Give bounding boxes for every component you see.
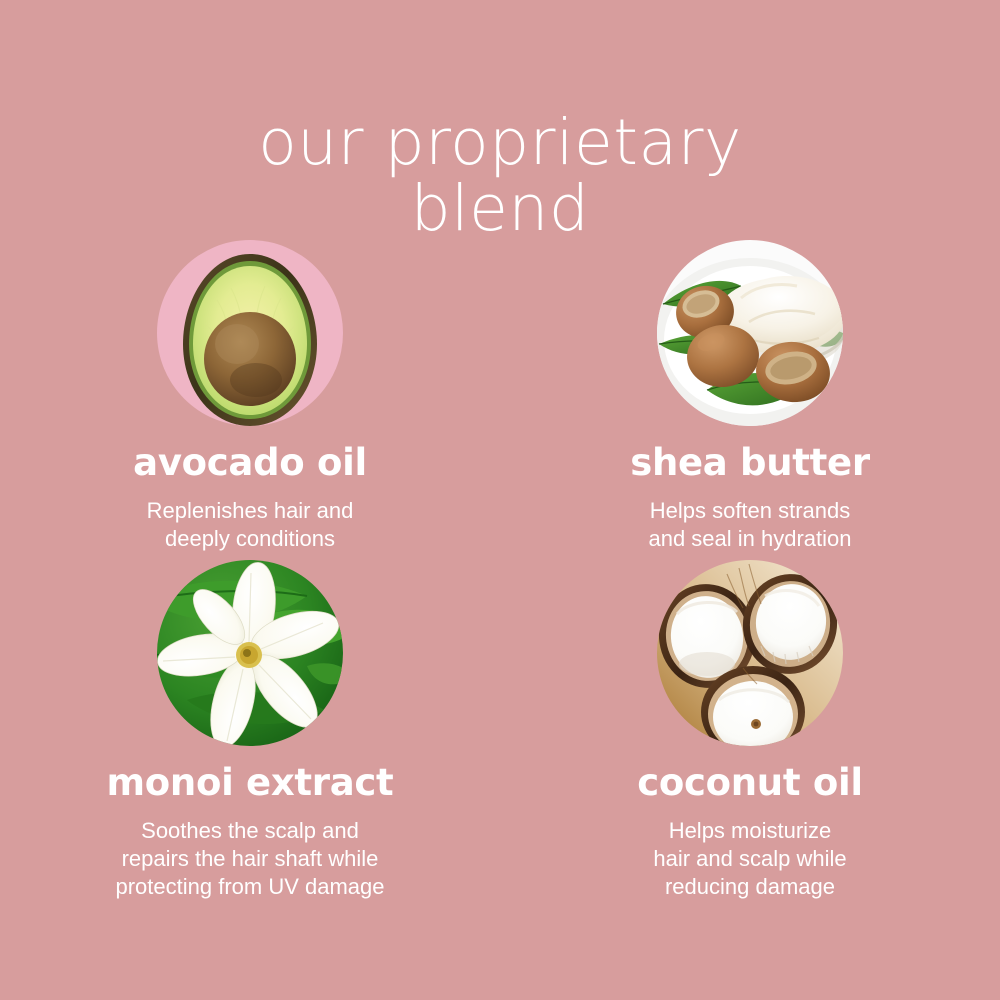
ingredient-card-coconut-oil: coconut oil Helps moisturize hair and sc… — [500, 560, 1000, 880]
avocado-media — [157, 240, 343, 426]
shea-butter-bowl-with-nuts-illustration — [657, 240, 843, 426]
ingredient-card-shea-butter: shea butter Helps soften strands and sea… — [500, 240, 1000, 560]
ingredient-title: monoi extract — [107, 764, 394, 801]
ingredient-description: Helps soften strands and seal in hydrati… — [648, 497, 851, 553]
ingredient-benefits-page: our proprietary blend — [0, 0, 1000, 1000]
avocado-half-illustration — [157, 240, 343, 426]
ingredient-description: Helps moisturize hair and scalp while re… — [653, 817, 846, 901]
shea-media — [657, 240, 843, 426]
tiare-flower-on-leaves-illustration — [157, 560, 343, 746]
ingredient-card-avocado-oil: avocado oil Replenishes hair and deeply … — [0, 240, 500, 560]
ingredient-title: shea butter — [630, 444, 870, 481]
coconut-media — [657, 560, 843, 746]
ingredient-description: Replenishes hair and deeply conditions — [147, 497, 354, 553]
coconut-halves-illustration — [657, 560, 843, 746]
page-title-line-2: blend — [0, 176, 1000, 242]
ingredient-description: Soothes the scalp and repairs the hair s… — [115, 817, 384, 901]
page-title-line-1: our proprietary — [0, 110, 1000, 176]
page-title: our proprietary blend — [0, 110, 1000, 241]
ingredient-title: coconut oil — [637, 764, 862, 801]
ingredient-card-monoi-extract: monoi extract Soothes the scalp and repa… — [0, 560, 500, 880]
monoi-media — [157, 560, 343, 746]
ingredient-grid: avocado oil Replenishes hair and deeply … — [0, 240, 1000, 880]
ingredient-title: avocado oil — [133, 444, 367, 481]
